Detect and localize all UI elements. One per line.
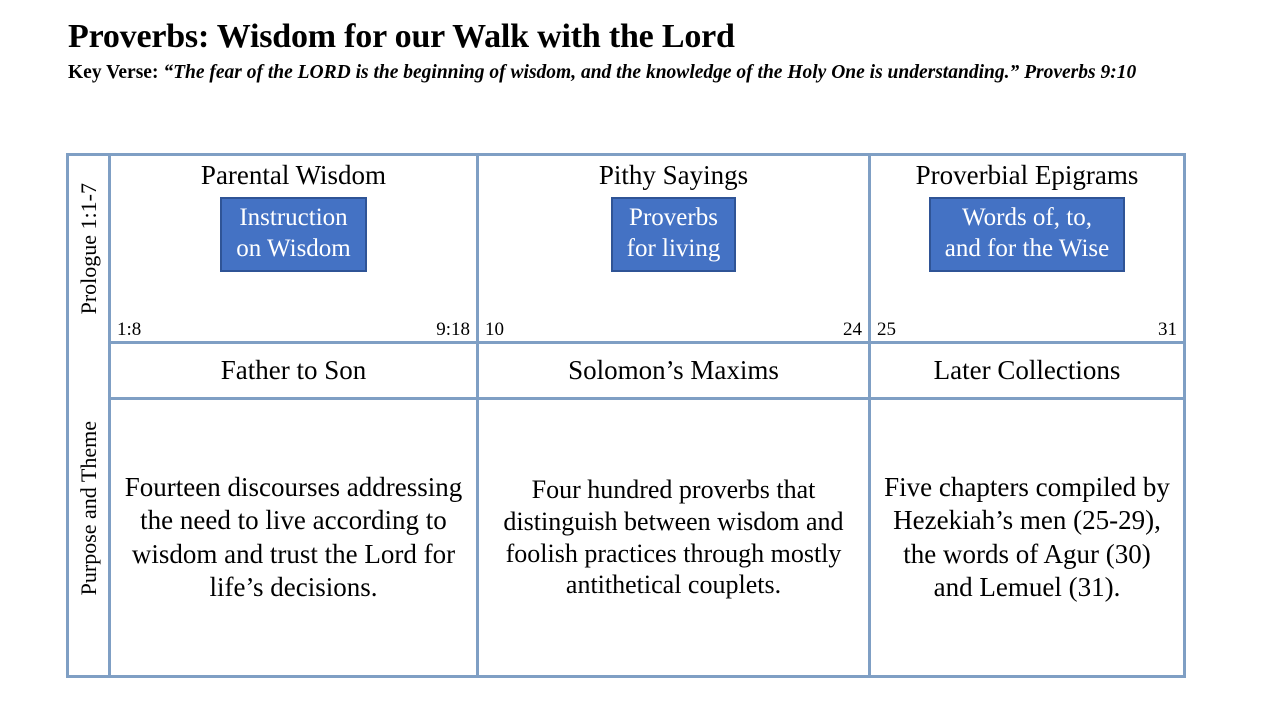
row-label-prologue-text: Prologue 1:1-7 <box>78 183 100 314</box>
subtitle-cell-later-collections: Later Collections <box>871 341 1183 397</box>
table-row: Father to Son Solomon’s Maxims Later Col… <box>111 341 1183 397</box>
verse-range-start: 25 <box>877 320 896 339</box>
highlight-box-line-1: Instruction <box>236 203 351 234</box>
section-cell-parental-wisdom: Parental Wisdom Instruction on Wisdom 1:… <box>111 156 479 341</box>
body-cell-parental-wisdom: Fourteen discourses addressing the need … <box>111 397 479 675</box>
highlight-box-line-1: Words of, to, <box>945 203 1109 234</box>
subtitle-cell-father-to-son: Father to Son <box>111 341 479 397</box>
table-row: Parental Wisdom Instruction on Wisdom 1:… <box>111 156 1183 341</box>
verse-range: 25 31 <box>871 320 1183 339</box>
verse-range-end: 31 <box>1158 320 1177 339</box>
subtitle-text: Later Collections <box>934 356 1121 386</box>
table-grid: Parental Wisdom Instruction on Wisdom 1:… <box>111 156 1183 675</box>
subtitle-text: Father to Son <box>221 356 367 386</box>
body-text: Four hundred proverbs that distinguish b… <box>491 474 856 602</box>
row-label-rail: Prologue 1:1-7 Purpose and Theme <box>69 156 111 675</box>
key-verse-quote: “The fear of the LORD is the beginning o… <box>163 62 1136 83</box>
section-cell-proverbial-epigrams: Proverbial Epigrams Words of, to, and fo… <box>871 156 1183 341</box>
verse-range-start: 1:8 <box>117 320 141 339</box>
verse-range-end: 9:18 <box>436 320 470 339</box>
section-title: Proverbial Epigrams <box>916 160 1139 190</box>
highlight-box-line-2: on Wisdom <box>236 234 351 265</box>
highlight-box-words-of-to-and-for-the-wise: Words of, to, and for the Wise <box>929 197 1125 272</box>
proverbs-outline-table: Prologue 1:1-7 Purpose and Theme Parenta… <box>66 153 1186 678</box>
body-cell-proverbial-epigrams: Five chapters compiled by Hezekiah’s men… <box>871 397 1183 675</box>
verse-range-start: 10 <box>485 320 504 339</box>
verse-range: 1:8 9:18 <box>111 320 476 339</box>
key-verse-line: Key Verse: “The fear of the LORD is the … <box>68 61 1198 86</box>
highlight-box-line-2: and for the Wise <box>945 234 1109 265</box>
verse-range-end: 24 <box>843 320 862 339</box>
row-label-prologue: Prologue 1:1-7 <box>69 156 108 341</box>
highlight-box-instruction-on-wisdom: Instruction on Wisdom <box>220 197 367 272</box>
key-verse-label: Key Verse: <box>68 62 163 83</box>
highlight-box-line-1: Proverbs <box>627 203 721 234</box>
body-text: Fourteen discourses addressing the need … <box>123 471 464 604</box>
highlight-box-line-2: for living <box>627 234 721 265</box>
section-cell-pithy-sayings: Pithy Sayings Proverbs for living 10 24 <box>479 156 871 341</box>
row-label-purpose-and-theme-text: Purpose and Theme <box>78 421 100 595</box>
section-title: Parental Wisdom <box>201 160 386 190</box>
subtitle-cell-solomons-maxims: Solomon’s Maxims <box>479 341 871 397</box>
body-cell-pithy-sayings: Four hundred proverbs that distinguish b… <box>479 397 871 675</box>
page-title: Proverbs: Wisdom for our Walk with the L… <box>68 18 1198 57</box>
body-text: Five chapters compiled by Hezekiah’s men… <box>883 471 1171 604</box>
subtitle-text: Solomon’s Maxims <box>568 356 779 386</box>
verse-range: 10 24 <box>479 320 868 339</box>
row-label-purpose-and-theme: Purpose and Theme <box>69 341 108 675</box>
section-title: Pithy Sayings <box>599 160 748 190</box>
highlight-box-proverbs-for-living: Proverbs for living <box>611 197 737 272</box>
table-row: Fourteen discourses addressing the need … <box>111 397 1183 675</box>
slide-header: Proverbs: Wisdom for our Walk with the L… <box>68 18 1198 85</box>
